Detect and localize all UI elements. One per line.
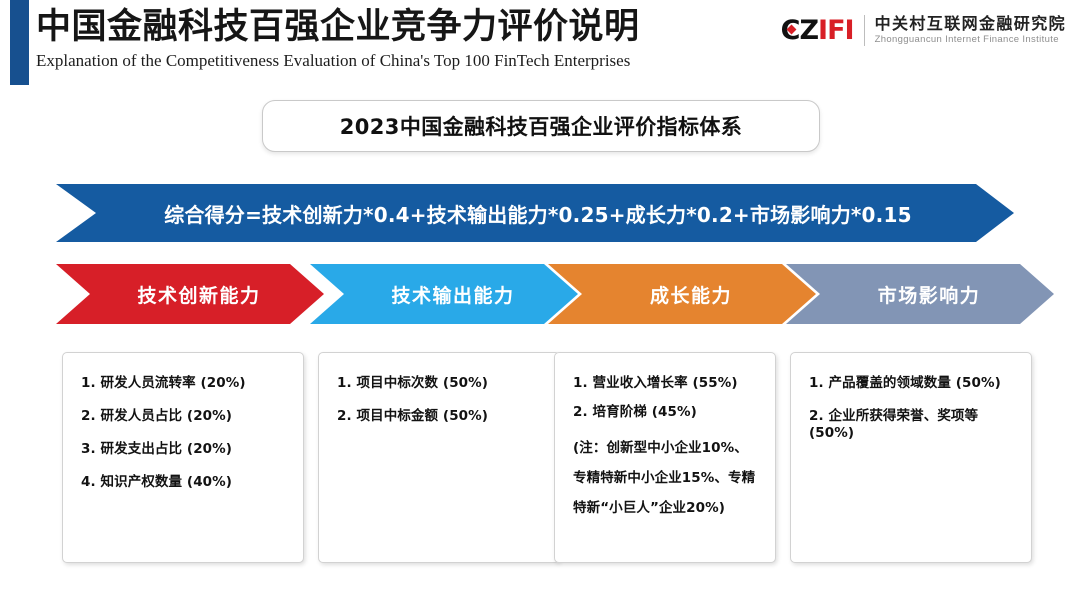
pillar-arrow-2: 技术输出能力 (310, 264, 578, 324)
card-metric-line: 1. 营业收入增长率 (55%) (573, 375, 761, 392)
pillar-label: 技术创新能力 (137, 281, 260, 308)
system-title-text: 2023中国金融科技百强企业评价指标体系 (340, 111, 742, 141)
card-note: (注：创新型中小企业10%、专精特新中小企业15%、专精特新“小巨人”企业20%… (573, 433, 761, 523)
logo-wordmark: 中关村互联网金融研究院 Zhongguancun Internet Financ… (875, 14, 1066, 46)
detail-card-1: 1. 研发人员流转率 (20%)2. 研发人员占比 (20%)3. 研发支出占比… (62, 352, 304, 563)
pillar-arrow-3: 成长能力 (548, 264, 816, 324)
pillar-label: 成长能力 (650, 281, 732, 308)
detail-card-3: 1. 营业收入增长率 (55%)2. 培育阶梯 (45%)(注：创新型中小企业1… (554, 352, 776, 563)
logo-letters-cz: CZ (781, 17, 818, 44)
logo-name-en: Zhongguancun Internet Finance Institute (875, 33, 1066, 46)
card-metric-line: 1. 研发人员流转率 (20%) (81, 375, 289, 392)
pillar-arrow-4: 市场影响力 (786, 264, 1054, 324)
card-metric-line: 2. 企业所获得荣誉、奖项等 (50%) (809, 408, 1017, 442)
formula-text: 综合得分=技术创新力*0.4+技术输出能力*0.25+成长力*0.2+市场影响力… (164, 199, 911, 228)
pillar-label: 市场影响力 (878, 281, 981, 308)
logo-divider (864, 15, 865, 46)
pillar-label: 技术输出能力 (391, 281, 514, 308)
detail-card-2: 1. 项目中标次数 (50%)2. 项目中标金额 (50%) (318, 352, 560, 563)
header-accent-bar (10, 0, 29, 85)
logo-mark-icon: CZ IFI (781, 17, 854, 44)
pillar-arrow-1: 技术创新能力 (56, 264, 324, 324)
card-metric-line: 1. 产品覆盖的领域数量 (50%) (809, 375, 1017, 392)
card-metric-line: 3. 研发支出占比 (20%) (81, 441, 289, 458)
detail-card-4: 1. 产品覆盖的领域数量 (50%)2. 企业所获得荣誉、奖项等 (50%) (790, 352, 1032, 563)
detail-card-row: 1. 研发人员流转率 (20%)2. 研发人员占比 (20%)3. 研发支出占比… (0, 352, 1080, 567)
page-subtitle: Explanation of the Competitiveness Evalu… (36, 50, 640, 72)
system-title-pill: 2023中国金融科技百强企业评价指标体系 (262, 100, 820, 152)
card-metric-line: 2. 项目中标金额 (50%) (337, 408, 545, 425)
page-header: 中国金融科技百强企业竞争力评价说明 Explanation of the Com… (0, 0, 1080, 88)
page-title: 中国金融科技百强企业竞争力评价说明 (36, 6, 640, 48)
formula-banner: 综合得分=技术创新力*0.4+技术输出能力*0.25+成长力*0.2+市场影响力… (56, 184, 1014, 242)
pillar-arrow-row: 技术创新能力技术输出能力成长能力市场影响力 (0, 264, 1080, 324)
card-metric-line: 2. 培育阶梯 (45%) (573, 404, 761, 421)
card-metric-line: 2. 研发人员占比 (20%) (81, 408, 289, 425)
title-block: 中国金融科技百强企业竞争力评价说明 Explanation of the Com… (36, 6, 640, 72)
logo-name-cn: 中关村互联网金融研究院 (875, 14, 1066, 33)
card-metric-line: 1. 项目中标次数 (50%) (337, 375, 545, 392)
logo-letters-ifi-text: IFI (818, 17, 854, 44)
institute-logo: CZ IFI 中关村互联网金融研究院 Zhongguancun Internet… (781, 9, 1066, 51)
card-metric-line: 4. 知识产权数量 (40%) (81, 474, 289, 491)
